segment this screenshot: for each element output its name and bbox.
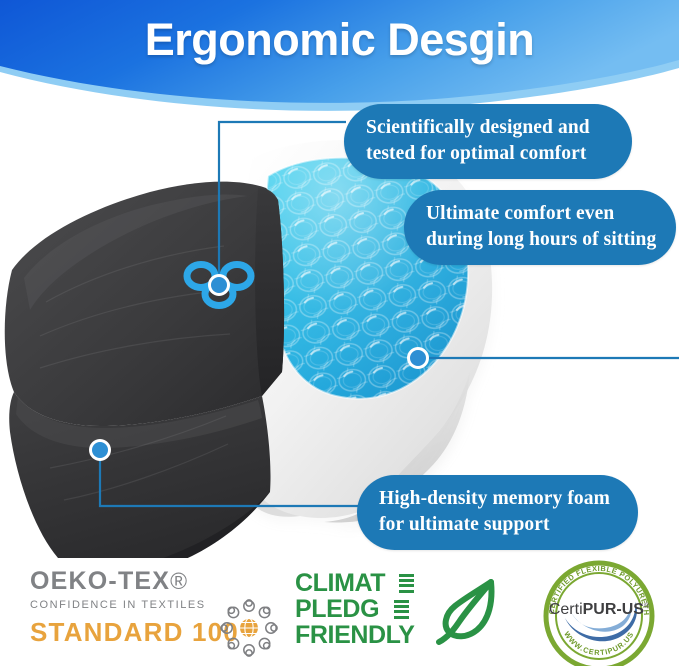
callout-memory-foam-line2: for ultimate support [379, 512, 616, 538]
cpf-bars-icon-1 [399, 574, 414, 592]
callout-scientific-line2: tested for optimal comfort [366, 141, 610, 167]
cpf-line-pledge: PLEDG [295, 596, 415, 622]
registered-mark-icon: ® [170, 568, 188, 594]
cpf-line-friendly: FRIENDLY [295, 622, 415, 648]
certification-logo-strip: OEKO-TEX® CONFIDENCE IN TEXTILES STANDAR… [0, 556, 679, 666]
cpf-friendly-text: FRIENDLY [295, 621, 415, 649]
gel-dot-marker [407, 347, 429, 369]
callout-comfort[interactable]: Ultimate comfort even during long hours … [404, 190, 676, 265]
oeko-tex-name-text: OEKO-TEX [30, 567, 170, 595]
callout-memory-foam-line1: High-density memory foam [379, 486, 616, 512]
certipur-center-text: CertiPUR-US® [549, 601, 650, 618]
cpf-climate-text: CLIMAT [295, 569, 385, 597]
certipur-us-seal-icon: CONTAINS CERTIFIED FLEXIBLE POLYURETHANE… [541, 558, 657, 666]
leaf-icon [433, 576, 505, 646]
callout-scientific-line1: Scientifically designed and [366, 115, 610, 141]
infographic-root: Ergonomic Desgin [0, 0, 679, 666]
cpf-bars-icon-2 [394, 600, 409, 618]
certipur-us-badge: CONTAINS CERTIFIED FLEXIBLE POLYURETHANE… [541, 558, 657, 666]
foam-dot-marker [89, 439, 111, 461]
memory-foam-cushion [5, 182, 284, 558]
page-title: Ergonomic Desgin [0, 14, 679, 66]
oeko-tex-name: OEKO-TEX® [30, 569, 226, 594]
callout-comfort-line2: during long hours of sitting [426, 227, 654, 253]
oeko-tex-standard: STANDARD 100 [30, 617, 226, 648]
callout-comfort-line1: Ultimate comfort even [426, 201, 654, 227]
callout-memory-foam[interactable]: High-density memory foam for ultimate su… [357, 475, 638, 550]
cpf-pledge-text: PLEDG [295, 595, 379, 623]
callout-scientific[interactable]: Scientifically designed and tested for o… [344, 104, 632, 179]
oeko-tex-logo: OEKO-TEX® CONFIDENCE IN TEXTILES STANDAR… [30, 569, 280, 657]
cpf-line-climate: CLIMAT [295, 570, 415, 596]
oeko-tex-emblem-icon [220, 599, 278, 657]
climate-pledge-friendly-logo: CLIMAT PLEDG FRIENDLY [295, 570, 515, 652]
oeko-tex-tagline: CONFIDENCE IN TEXTILES [30, 599, 226, 611]
